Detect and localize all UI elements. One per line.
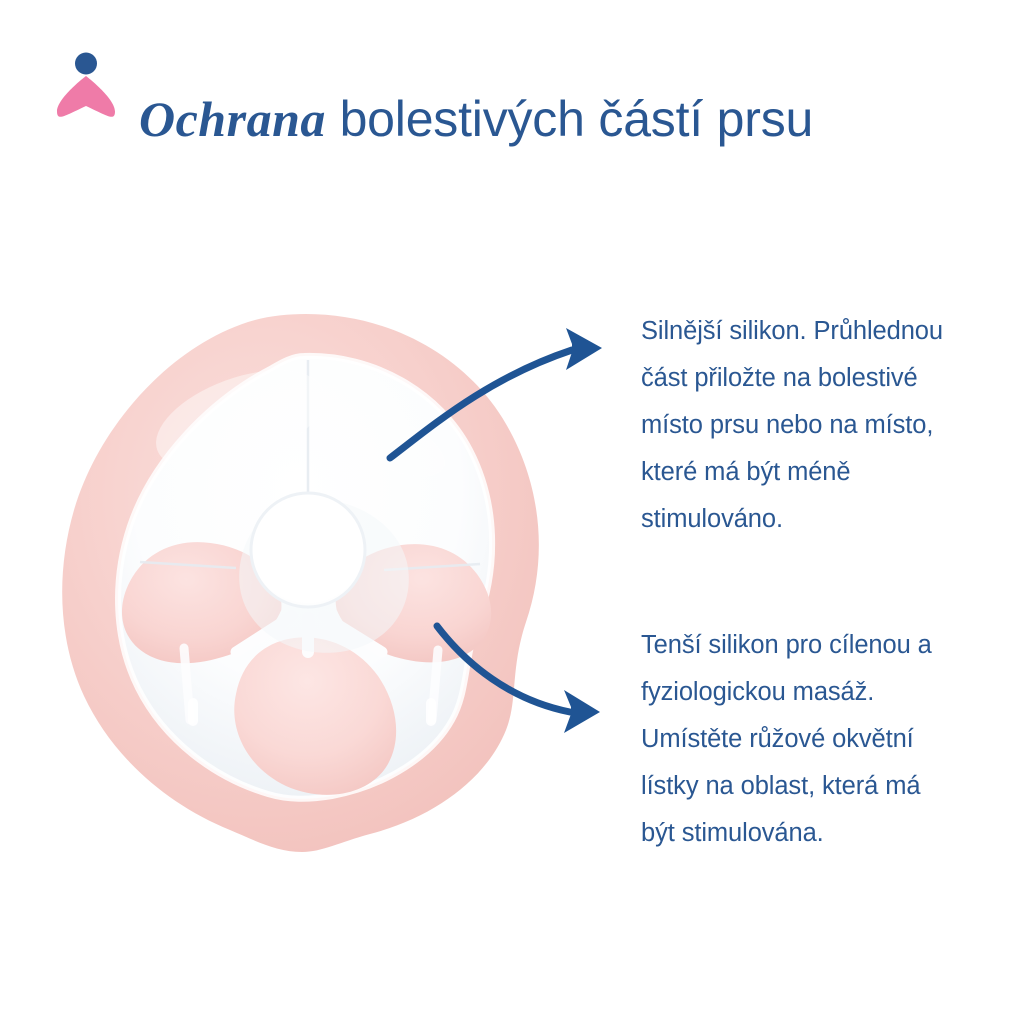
- heart-person-logo-icon: [55, 52, 117, 120]
- callout-line: lístky na oblast, která má: [641, 763, 993, 810]
- page-title-accent: Ochrana: [139, 91, 326, 147]
- callout-line: stimulováno.: [641, 496, 993, 543]
- callout-line: být stimulována.: [641, 810, 993, 857]
- callout-line: fyziologickou masáž.: [641, 669, 993, 716]
- page-title-rest: bolestivých částí prsu: [326, 91, 813, 147]
- callout-line: které má být méně: [641, 449, 993, 496]
- callout-text-petal-part: Tenší silikon pro cílenou a fyziologicko…: [641, 622, 993, 857]
- callout-line: místo prsu nebo na místo,: [641, 402, 993, 449]
- callout-line: Umístěte růžové okvětní: [641, 716, 993, 763]
- callout-text-transparent-part: Silnější silikon. Průhlednou část přilož…: [641, 308, 993, 543]
- header: Ochrana bolestivých částí prsu: [0, 0, 1024, 200]
- product-image: [40, 300, 580, 860]
- callout-line: část přiložte na bolestivé: [641, 355, 993, 402]
- callout-line: Silnější silikon. Průhlednou: [641, 308, 993, 355]
- page-title: Ochrana bolestivých částí prsu: [139, 90, 979, 148]
- infographic-page: Ochrana bolestivých částí prsu: [0, 0, 1024, 1024]
- callout-line: Tenší silikon pro cílenou a: [641, 622, 993, 669]
